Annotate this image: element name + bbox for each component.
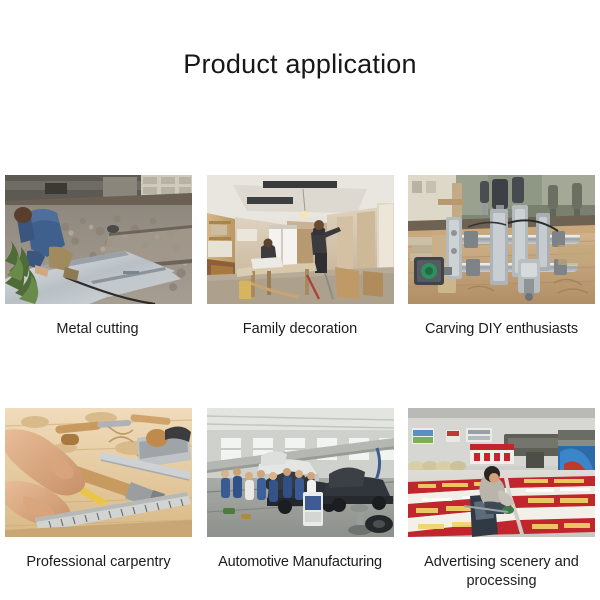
gallery-item-caption: Carving DIY enthusiasts [408,320,595,339]
page-title: Product application [0,48,600,80]
gallery-item-metal-cutting[interactable]: Metal cutting [5,175,192,339]
gallery-item-advertising-scenery-and-processing[interactable]: Advertising scenery and processing [408,408,595,591]
gallery-item-caption: Metal cutting [3,320,192,339]
gallery-item-carving-diy-enthusiasts[interactable]: Carving DIY enthusiasts [408,175,595,339]
photo-professional-carpentry[interactable] [5,408,192,537]
photo-automotive-manufacturing[interactable] [207,408,394,537]
gallery-item-professional-carpentry[interactable]: Professional carpentry [5,408,192,591]
gallery-item-family-decoration[interactable]: Family decoration [207,175,394,339]
photo-carving-machine[interactable] [408,175,595,304]
cnc-carving-machine-illustration [408,175,595,304]
gallery-item-caption: Advertising scenery and processing [408,553,595,591]
gallery-item-caption: Family decoration [207,320,394,339]
banner-printing-illustration [408,408,595,537]
gallery-row: Professional carpentry [5,408,595,591]
carpentry-illustration [5,408,192,537]
gallery-item-automotive-manufacturing[interactable]: Automotive Manufacturing [207,408,394,591]
application-gallery-grid: Metal cutting [5,175,595,591]
gallery-row: Metal cutting [5,175,595,339]
family-decoration-illustration [207,175,394,304]
gallery-item-caption: Automotive Manufacturing [207,553,394,572]
gallery-item-caption: Professional carpentry [5,553,192,572]
metal-cutting-illustration [5,175,192,304]
automotive-workshop-illustration [207,408,394,537]
photo-advertising-scenery[interactable] [408,408,595,537]
photo-metal-cutting[interactable] [5,175,192,304]
product-application-page: Product application [0,0,600,600]
photo-family-decoration[interactable] [207,175,394,304]
